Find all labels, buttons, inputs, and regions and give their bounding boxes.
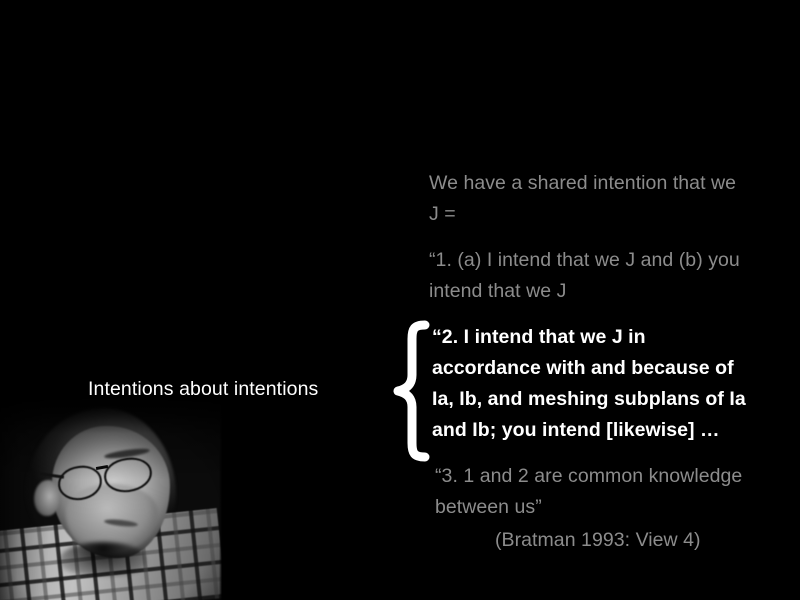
annotation-label: Intentions about intentions	[88, 377, 318, 401]
portrait-right-edge	[219, 392, 222, 600]
slide-text-column: We have a shared intention that we J = “…	[429, 168, 749, 556]
paragraph-lead: We have a shared intention that we J =	[429, 168, 749, 230]
curly-brace-icon	[392, 320, 432, 462]
portrait-fade-overlay	[0, 392, 222, 600]
presentation-slide: Intentions about intentions We have a sh…	[0, 0, 800, 600]
paragraph-point-three: “3. 1 and 2 are common knowledge between…	[435, 461, 749, 523]
portrait-photo	[0, 392, 222, 600]
paragraph-point-two-highlighted: “2. I intend that we J in accordance wit…	[432, 322, 749, 446]
citation: (Bratman 1993: View 4)	[495, 525, 749, 556]
paragraph-point-one: “1. (a) I intend that we J and (b) you i…	[429, 245, 749, 307]
